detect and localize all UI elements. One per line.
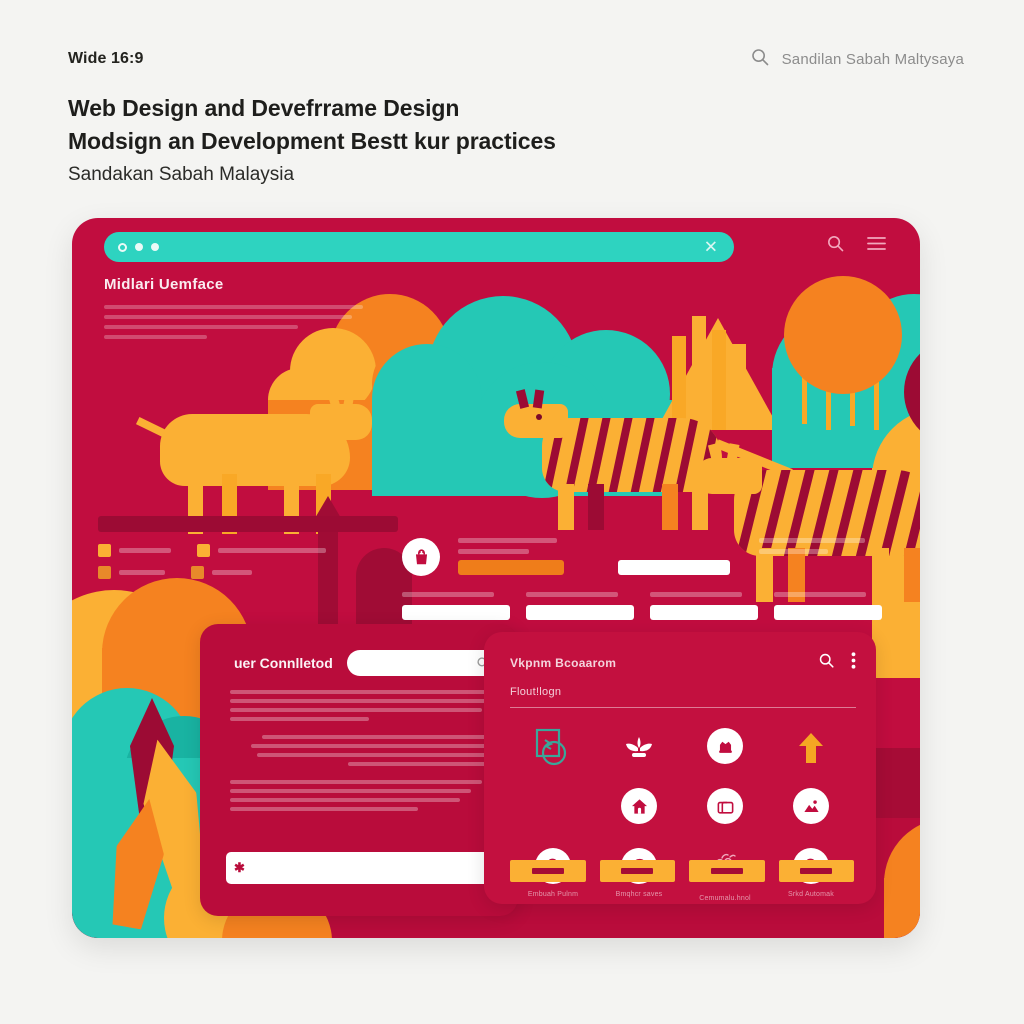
chip-item[interactable] (191, 566, 252, 579)
browser-address-bar[interactable]: ✕ (104, 232, 734, 262)
grid-item[interactable] (533, 788, 573, 828)
grid-item[interactable] (621, 788, 657, 828)
chip-item[interactable] (197, 544, 326, 557)
progress-bar-row (510, 860, 854, 882)
aspect-ratio-label: Wide 16:9 (68, 50, 143, 68)
traffic-light-dot-1 (118, 243, 127, 252)
chip-label (212, 570, 252, 575)
grid-item[interactable] (791, 728, 831, 768)
page-header: Wide 16:9 Sandilan Sabah Maltysaya (68, 42, 964, 76)
grid-item[interactable] (707, 728, 743, 768)
left-panel-input-field[interactable]: ✱ (226, 852, 502, 884)
traffic-light-dot-3 (151, 243, 159, 251)
chip-swatch-icon (197, 544, 210, 557)
bar-item[interactable] (779, 860, 855, 882)
hero-placeholder-lines (104, 305, 374, 339)
chip-swatch-icon (191, 566, 204, 579)
left-dashboard-panel: uer Connlletod ✱ (200, 624, 518, 916)
chip-label (218, 548, 326, 553)
chip-item[interactable] (98, 544, 171, 557)
header-search-text: Sandilan Sabah Maltysaya (782, 51, 964, 68)
grid-item-label: Srkd Automak (788, 891, 834, 898)
grid-item-label: Embuah Pulnm (528, 891, 578, 898)
close-icon[interactable]: ✕ (704, 239, 718, 256)
bar-item[interactable] (600, 860, 676, 882)
left-panel-search-input[interactable] (347, 650, 500, 676)
search-icon[interactable] (826, 234, 845, 253)
title-line-2: Modsign an Development Bestt kur practic… (68, 125, 768, 158)
chip-item[interactable] (98, 566, 165, 579)
content-row-card (402, 538, 882, 620)
right-icon-panel: Vkpnm Bcoaarom (484, 632, 876, 904)
search-icon[interactable] (818, 652, 835, 674)
chip-swatch-icon (98, 566, 111, 579)
search-icon (750, 47, 770, 72)
grid-item[interactable] (533, 728, 573, 768)
shopping-bag-icon (402, 538, 440, 576)
badge-crown-icon (707, 728, 743, 764)
browser-chrome-actions (826, 234, 886, 253)
ui-mockup-card: ✕ Midlari Uemface (72, 218, 920, 938)
grid-item[interactable] (707, 788, 743, 828)
header-divider (510, 707, 856, 708)
hero-title: Midlari Uemface (104, 276, 374, 293)
hero-copy: Midlari Uemface (104, 276, 374, 339)
hamburger-menu-icon[interactable] (867, 236, 886, 251)
asterisk-icon: ✱ (234, 860, 244, 876)
grid-item[interactable] (793, 788, 829, 828)
title-line-1: Web Design and Devefrrame Design (68, 92, 768, 125)
grid-item-label: Bmqhcr saves (616, 891, 663, 898)
leaf-plant-icon (619, 728, 659, 768)
header-search[interactable]: Sandilan Sabah Maltysaya (750, 47, 964, 72)
right-panel-subtitle: Flout!logn (510, 686, 856, 698)
chip-label (119, 570, 165, 575)
up-arrow-icon (791, 728, 831, 768)
traffic-light-dot-2 (135, 243, 143, 251)
left-panel-header: uer Connlletod (234, 650, 500, 676)
bar-item[interactable] (510, 860, 586, 882)
frame-circle-overlap-icon (533, 728, 573, 768)
bar-item[interactable] (689, 860, 765, 882)
right-panel-header: Vkpnm Bcoaarom (510, 652, 856, 708)
briefcase-icon (707, 788, 743, 824)
mountain-photo-icon (793, 788, 829, 824)
grid-item-label: Cemumalu.hnol (699, 895, 751, 902)
home-icon (621, 788, 657, 824)
grid-item[interactable] (619, 728, 659, 768)
title-block: Web Design and Devefrrame Design Modsign… (68, 92, 768, 189)
chip-label (119, 548, 171, 553)
chip-swatch-icon (98, 544, 111, 557)
ground-strip (98, 516, 398, 532)
left-panel-title: uer Connlletod (234, 655, 333, 671)
right-panel-title: Vkpnm Bcoaarom (510, 656, 616, 670)
left-panel-body-text (230, 690, 498, 811)
more-vertical-icon[interactable] (851, 652, 856, 674)
page-subtitle: Sandakan Sabah Malaysia (68, 161, 768, 190)
chip-legend-grid (98, 544, 398, 579)
